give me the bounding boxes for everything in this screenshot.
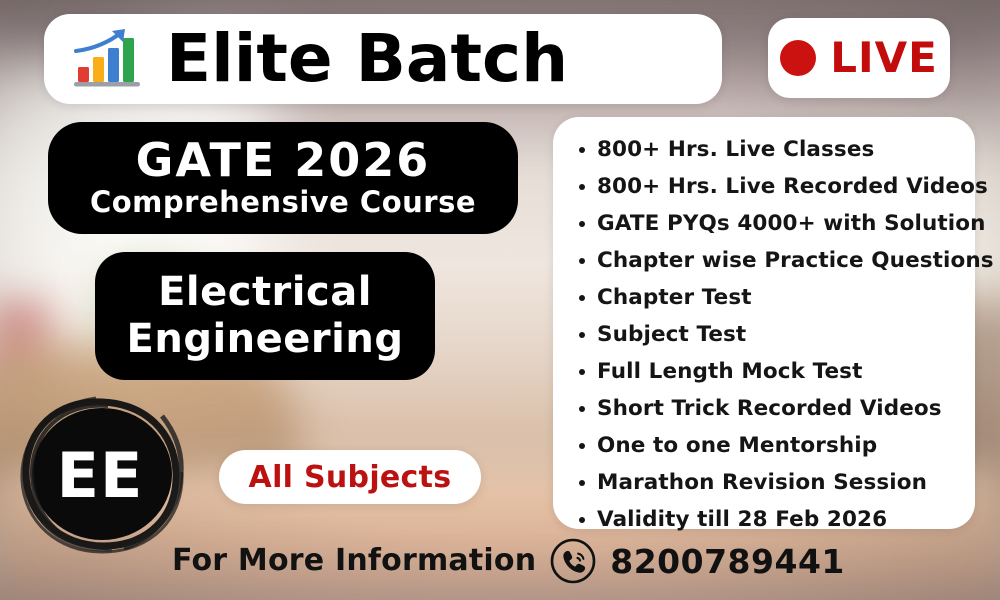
all-subjects-pill: All Subjects bbox=[219, 450, 481, 504]
course-subtitle: Comprehensive Course bbox=[90, 186, 476, 219]
list-item: Chapter wise Practice Questions bbox=[575, 242, 975, 279]
contact-bar: For More Information 8200789441 bbox=[172, 538, 845, 584]
features-card: 800+ Hrs. Live Classes 800+ Hrs. Live Re… bbox=[553, 117, 975, 529]
branch-code-label: EE bbox=[12, 396, 188, 554]
live-badge: LIVE bbox=[768, 18, 950, 98]
contact-label: For More Information bbox=[172, 546, 536, 576]
course-title-card: GATE 2026 Comprehensive Course bbox=[48, 122, 518, 234]
course-title: GATE 2026 bbox=[136, 136, 431, 184]
list-item: Marathon Revision Session bbox=[575, 464, 975, 501]
branch-name-line2: Engineering bbox=[127, 316, 404, 363]
list-item: Full Length Mock Test bbox=[575, 353, 975, 390]
brand-title-card: Elite Batch bbox=[44, 14, 722, 104]
promo-banner: Elite Batch LIVE GATE 2026 Comprehensive… bbox=[0, 0, 1000, 600]
growth-bar-chart-icon bbox=[70, 27, 146, 91]
features-list: 800+ Hrs. Live Classes 800+ Hrs. Live Re… bbox=[553, 131, 975, 538]
list-item: Chapter Test bbox=[575, 279, 975, 316]
list-item: GATE PYQs 4000+ with Solution bbox=[575, 205, 975, 242]
branch-code-badge: EE bbox=[12, 396, 188, 554]
list-item: Validity till 28 Feb 2026 bbox=[575, 501, 975, 538]
list-item: Short Trick Recorded Videos bbox=[575, 390, 975, 427]
list-item: Subject Test bbox=[575, 316, 975, 353]
page-title: Elite Batch bbox=[166, 26, 568, 92]
list-item: One to one Mentorship bbox=[575, 427, 975, 464]
record-dot-icon bbox=[780, 40, 816, 76]
live-label: LIVE bbox=[830, 37, 938, 79]
list-item: 800+ Hrs. Live Recorded Videos bbox=[575, 168, 975, 205]
branch-name-line1: Electrical bbox=[158, 269, 372, 316]
branch-card: Electrical Engineering bbox=[95, 252, 435, 380]
all-subjects-label: All Subjects bbox=[249, 460, 452, 495]
phone-call-icon bbox=[550, 538, 596, 584]
contact-phone-number: 8200789441 bbox=[610, 545, 845, 578]
list-item: 800+ Hrs. Live Classes bbox=[575, 131, 975, 168]
